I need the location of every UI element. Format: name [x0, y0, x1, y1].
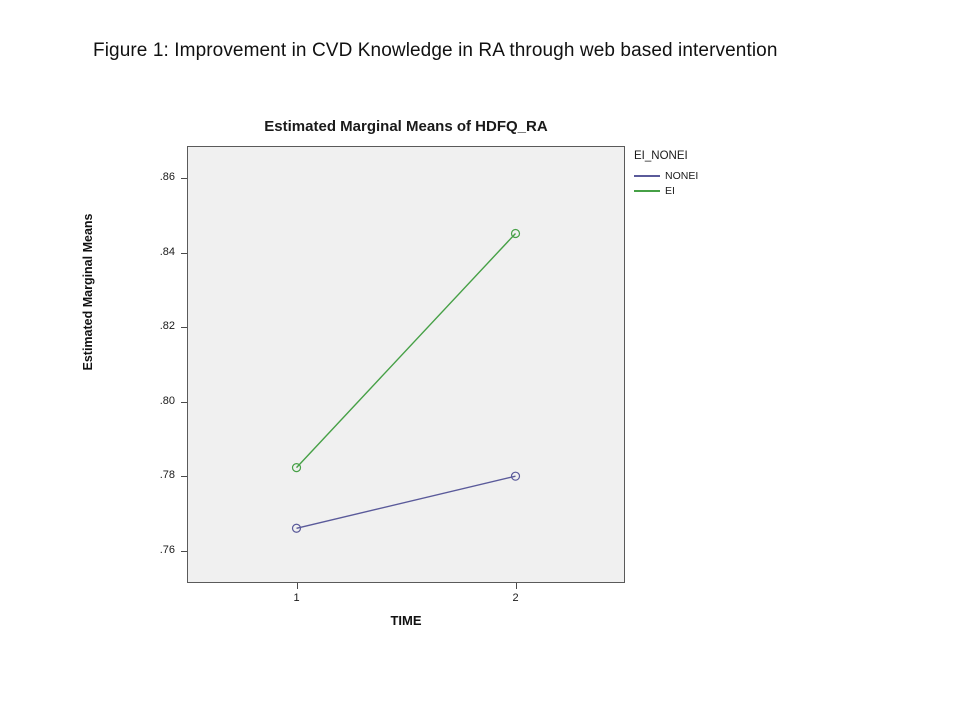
y-tick-label: .80: [141, 395, 175, 407]
x-tick-label: 1: [287, 592, 307, 604]
y-tick-mark: [181, 178, 187, 179]
x-tick-label: 2: [506, 592, 526, 604]
legend-entry-ei[interactable]: EI: [634, 184, 764, 198]
chart-title: Estimated Marginal Means of HDFQ_RA: [187, 118, 625, 135]
plot-lines-svg: [187, 146, 625, 583]
series-line-nonei: [297, 476, 516, 528]
y-tick-label: .78: [141, 469, 175, 481]
series-layer: [293, 229, 520, 532]
y-tick-label: .84: [141, 246, 175, 258]
legend-entry-nonei[interactable]: NONEI: [634, 169, 764, 183]
y-tick-label: .86: [141, 171, 175, 183]
y-tick-mark: [181, 476, 187, 477]
series-line-ei: [297, 233, 516, 467]
y-axis-title: Estimated Marginal Means: [81, 192, 95, 392]
y-tick-mark: [181, 253, 187, 254]
y-tick-label: .76: [141, 544, 175, 556]
y-tick-mark: [181, 327, 187, 328]
legend-line-swatch: [634, 175, 660, 177]
legend-label: NONEI: [665, 170, 698, 182]
legend-label: EI: [665, 185, 675, 197]
y-tick-mark: [181, 402, 187, 403]
y-tick-label: .82: [141, 320, 175, 332]
legend-entries: NONEIEI: [634, 169, 764, 198]
x-tick-mark: [516, 583, 517, 589]
chart-figure: Estimated Marginal Means of HDFQ_RA .86.…: [0, 0, 960, 720]
x-tick-mark: [297, 583, 298, 589]
x-axis-title: TIME: [187, 613, 625, 628]
legend-line-swatch: [634, 190, 660, 192]
y-tick-mark: [181, 551, 187, 552]
legend-title: EI_NONEI: [634, 150, 764, 162]
chart-legend: EI_NONEI NONEIEI: [634, 150, 764, 199]
